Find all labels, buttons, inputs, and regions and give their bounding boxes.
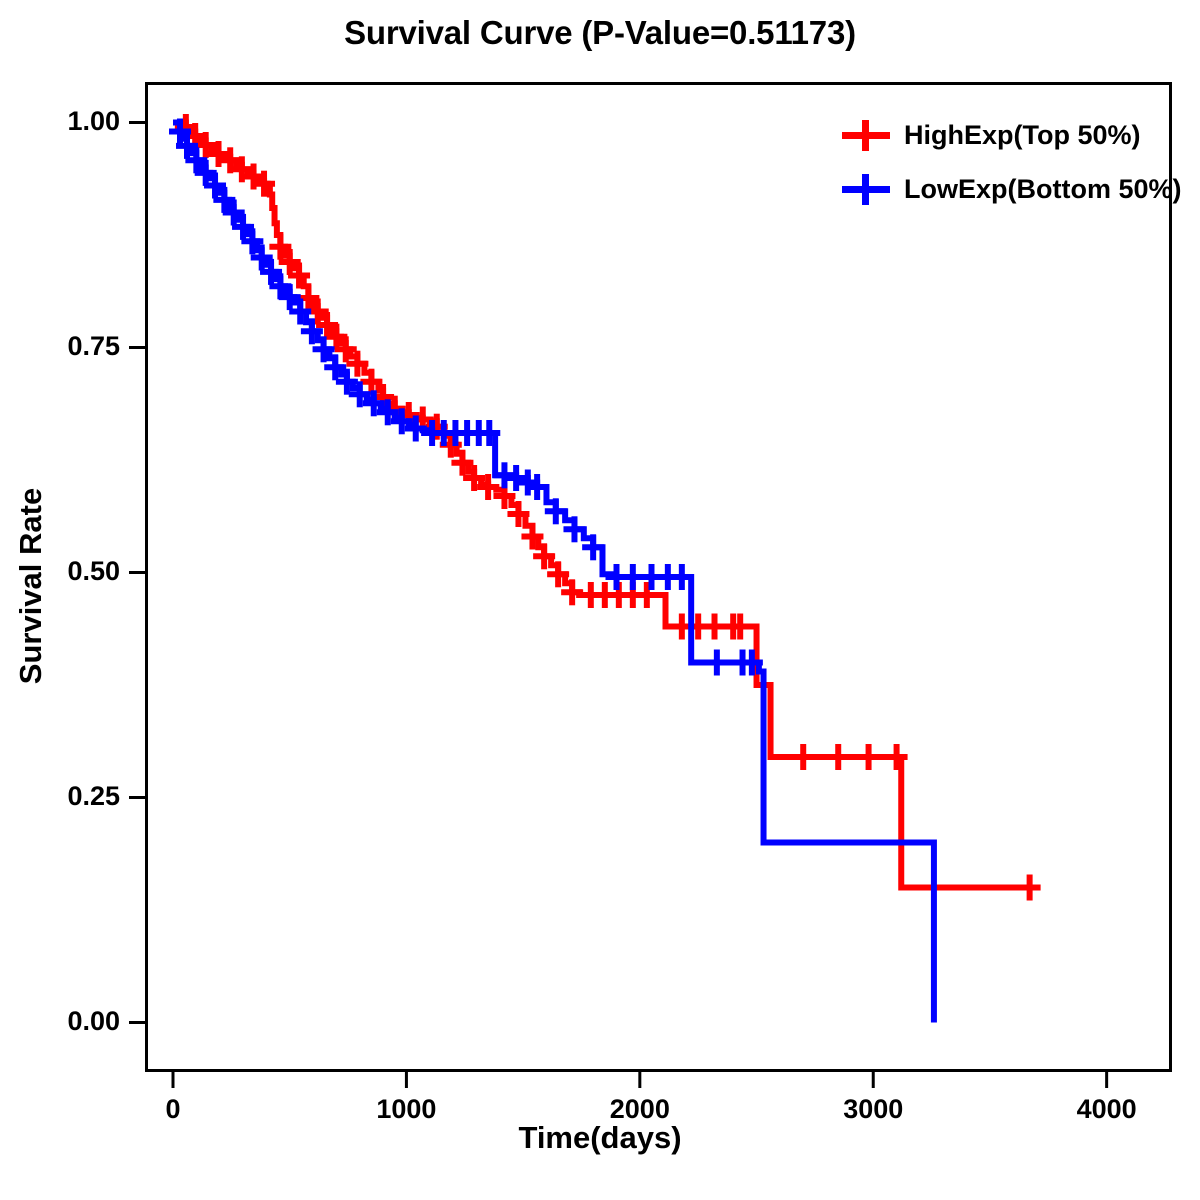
y-tick-label: 1.00: [0, 106, 120, 137]
series-layer: [169, 114, 1041, 1023]
legend-label-low-exp: LowExp(Bottom 50%): [904, 174, 1182, 205]
legend-item-low-exp[interactable]: LowExp(Bottom 50%): [838, 162, 1182, 216]
y-tick-label: 0.25: [0, 781, 120, 812]
series-high-exp: [173, 114, 1041, 901]
censor-marks: [169, 119, 763, 676]
legend-label-high-exp: HighExp(Top 50%): [904, 120, 1141, 151]
y-tick-label: 0.75: [0, 331, 120, 362]
plus-marker-icon: [838, 115, 894, 155]
step-line: [173, 123, 1030, 888]
legend-item-high-exp[interactable]: HighExp(Top 50%): [838, 108, 1182, 162]
censor-marks: [175, 114, 1041, 901]
x-axis-title: Time(days): [0, 1120, 1200, 1156]
legend: HighExp(Top 50%) LowExp(Bottom 50%): [838, 108, 1182, 216]
survival-curve-figure: Survival Curve (P-Value=0.51173) 0.000.2…: [0, 0, 1200, 1200]
y-axis-title: Survival Rate: [13, 436, 49, 736]
y-tick-label: 0.00: [0, 1006, 120, 1037]
plus-marker-icon: [838, 169, 894, 209]
